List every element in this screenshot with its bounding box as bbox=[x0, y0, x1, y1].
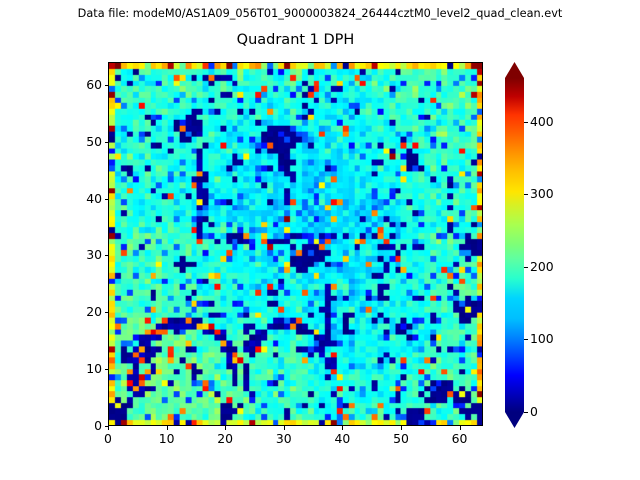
colorbar[interactable] bbox=[505, 62, 524, 428]
y-tick-mark bbox=[105, 85, 109, 86]
colorbar-tick-mark bbox=[524, 194, 528, 195]
x-tick-mark bbox=[460, 426, 461, 430]
colorbar-tick-mark bbox=[524, 412, 528, 413]
colorbar-tick-mark bbox=[524, 339, 528, 340]
x-tick-label: 60 bbox=[452, 432, 468, 446]
colorbar-tick-mark bbox=[524, 267, 528, 268]
y-tick-label: 0 bbox=[94, 419, 102, 433]
y-tick-mark bbox=[105, 199, 109, 200]
x-tick-mark bbox=[108, 426, 109, 430]
y-tick-mark bbox=[105, 255, 109, 256]
x-tick-label: 10 bbox=[159, 432, 175, 446]
colorbar-body bbox=[505, 78, 524, 412]
detector-heatmap-image bbox=[109, 63, 482, 425]
x-tick-mark bbox=[167, 426, 168, 430]
x-tick-label: 0 bbox=[104, 432, 112, 446]
y-tick-label: 20 bbox=[86, 305, 102, 319]
colorbar-extend-max-arrow bbox=[505, 62, 524, 78]
y-tick-label: 60 bbox=[86, 78, 102, 92]
x-tick-mark bbox=[342, 426, 343, 430]
y-tick-label: 30 bbox=[86, 248, 102, 262]
x-tick-mark bbox=[401, 426, 402, 430]
x-tick-label: 40 bbox=[334, 432, 350, 446]
colorbar-extend-min-arrow bbox=[505, 412, 524, 428]
colorbar-tick-label: 200 bbox=[530, 260, 554, 274]
figure-canvas: Data file: modeM0/AS1A09_056T01_90000038… bbox=[0, 0, 640, 480]
y-tick-label: 50 bbox=[86, 135, 102, 149]
colorbar-tick-label: 100 bbox=[530, 332, 554, 346]
y-tick-label: 10 bbox=[86, 362, 102, 376]
colorbar-tick-label: 0 bbox=[530, 405, 538, 419]
y-tick-mark bbox=[105, 312, 109, 313]
colorbar-gradient bbox=[505, 62, 524, 428]
plot-title: Quadrant 1 DPH bbox=[108, 31, 483, 49]
x-tick-mark bbox=[225, 426, 226, 430]
colorbar-tick-label: 400 bbox=[530, 115, 554, 129]
x-tick-label: 30 bbox=[276, 432, 292, 446]
x-tick-mark bbox=[284, 426, 285, 430]
y-tick-mark bbox=[105, 369, 109, 370]
colorbar-tick-label: 300 bbox=[530, 187, 554, 201]
y-tick-mark bbox=[105, 426, 109, 427]
colorbar-tick-mark bbox=[524, 122, 528, 123]
x-tick-label: 50 bbox=[393, 432, 409, 446]
y-tick-mark bbox=[105, 142, 109, 143]
y-tick-label: 40 bbox=[86, 192, 102, 206]
x-tick-label: 20 bbox=[217, 432, 233, 446]
data-file-suptitle: Data file: modeM0/AS1A09_056T01_90000038… bbox=[0, 7, 640, 21]
heatmap-axes[interactable] bbox=[108, 62, 483, 426]
